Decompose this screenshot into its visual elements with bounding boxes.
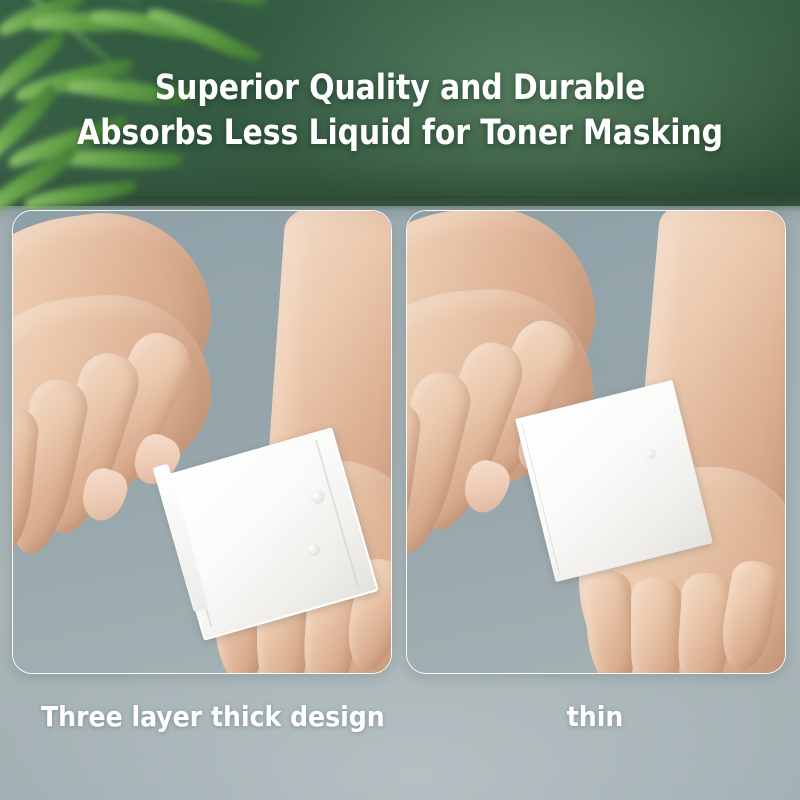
headline-line-1: Superior Quality and Durable xyxy=(20,66,780,111)
comparison-panel-right xyxy=(406,210,786,674)
caption-left: Three layer thick design xyxy=(41,700,385,734)
treated-hand-finger-2 xyxy=(631,577,681,673)
pad-dimple-1 xyxy=(645,448,657,460)
pad-dimple-1 xyxy=(309,488,326,505)
product-comparison-infographic: Superior Quality and Durable Absorbs Les… xyxy=(0,0,800,800)
comparison-panel-left xyxy=(12,210,392,674)
headline-line-2: Absorbs Less Liquid for Toner Masking xyxy=(20,111,780,156)
panel-right-photo xyxy=(407,211,785,673)
caption-right: thin xyxy=(406,700,784,734)
panel-left-photo xyxy=(13,211,391,673)
headline: Superior Quality and Durable Absorbs Les… xyxy=(0,66,800,156)
pad-dimple-2 xyxy=(306,542,322,558)
